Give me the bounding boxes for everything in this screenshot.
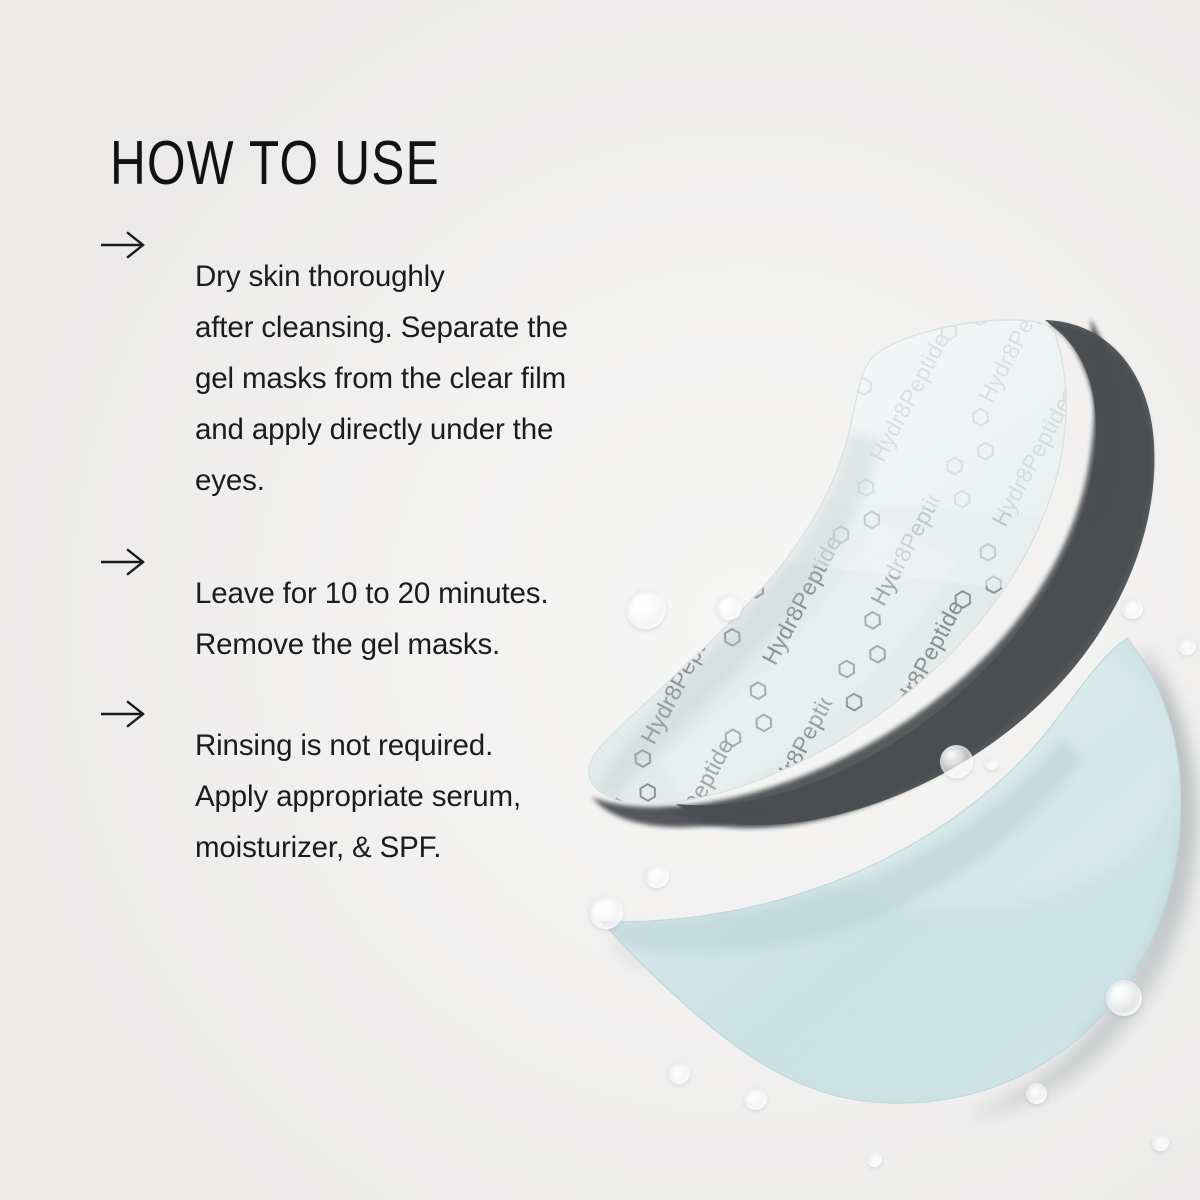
instruction-step-text: Rinsing is not required. Apply appropria… [195,720,665,873]
page-title: HOW TO USE [110,133,440,195]
how-to-use-panel: Hydr8Peptide Hydr8Peptide [0,0,1200,1200]
arrow-right-icon [101,697,149,731]
instruction-step-text: Dry skin thoroughly after cleansing. Sep… [195,251,665,506]
instruction-step-text: Leave for 10 to 20 minutes. Remove the g… [195,568,665,670]
arrow-right-icon [101,545,149,579]
arrow-right-icon [101,228,149,262]
